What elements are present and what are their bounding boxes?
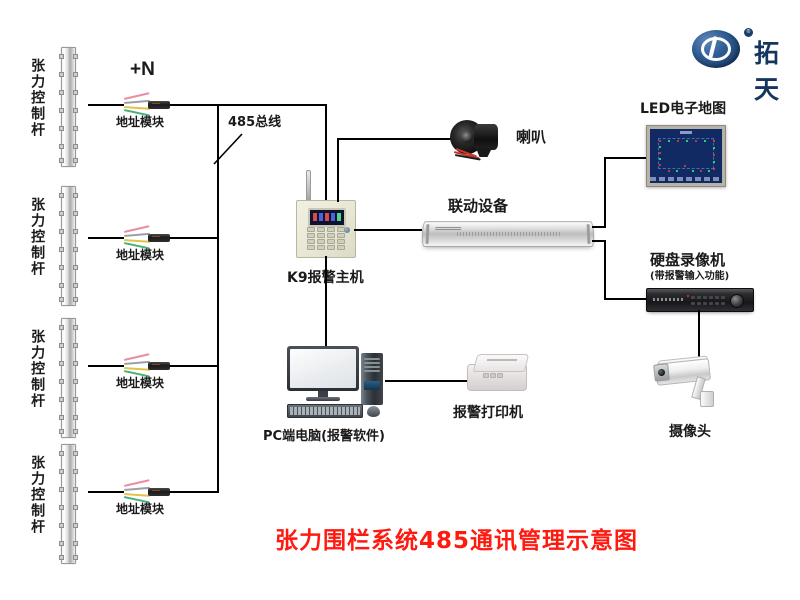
- address-module-label-1: 地址模块: [116, 116, 164, 130]
- plus-n-label: +N: [130, 59, 155, 81]
- led-map-screen: [650, 129, 722, 183]
- pc-tower: [361, 353, 383, 405]
- address-module-2: [124, 231, 170, 245]
- diagram-canvas: ® 拓天 张力控制杆 地址模块 +N 张力控制杆: [0, 0, 800, 600]
- wire-to-ledmap-horizontal: [604, 157, 646, 159]
- pc-monitor: [287, 346, 359, 391]
- wire-module2-to-bus: [170, 237, 219, 239]
- printer-paper-slot: [487, 359, 517, 361]
- tension-pole-label-3: 张力控制杆: [29, 329, 45, 409]
- pc-label: PC端电脑(报警软件): [263, 430, 385, 445]
- wire-module3-to-bus: [170, 365, 219, 367]
- speaker-body: [474, 124, 498, 150]
- camera-label: 摄像头: [669, 424, 711, 440]
- bus-trunk-top-horizontal: [217, 104, 327, 106]
- address-module-label-3: 地址模块: [116, 377, 164, 391]
- tuotian-oval-logo-icon: [692, 30, 740, 68]
- dvr-sublabel: (带报警输入功能): [650, 271, 729, 283]
- mouse[interactable]: [367, 406, 380, 417]
- k9-alarm-host: [296, 200, 356, 258]
- wire-host-to-linkage: [354, 229, 422, 231]
- host-indicator-knob: [344, 227, 350, 233]
- address-module-label-2: 地址模块: [116, 249, 164, 263]
- wire-pc-to-printer: [385, 380, 469, 382]
- address-module-label-4: 地址模块: [116, 503, 164, 517]
- brand-name: 拓天: [754, 34, 780, 106]
- horn-speaker: [450, 118, 502, 158]
- surveillance-camera: [654, 355, 726, 407]
- registered-mark: ®: [744, 28, 753, 37]
- wire-dvr-to-camera: [698, 310, 700, 357]
- monitor-stand-base: [306, 397, 340, 401]
- dvr-button-row[interactable]: [691, 296, 733, 306]
- bus-label: 485总线: [228, 116, 281, 131]
- linkage-device: [421, 221, 594, 247]
- wire-pole1-to-module1: [88, 104, 124, 106]
- led-electronic-map: [646, 125, 726, 187]
- wire-pole4-to-module4: [88, 491, 124, 493]
- pc-workstation: [287, 346, 383, 422]
- tension-pole-1: [61, 47, 76, 167]
- led-map-label: LED电子地图: [640, 101, 726, 117]
- tension-pole-2: [61, 186, 76, 306]
- camera-lens-icon: [653, 363, 670, 381]
- tension-pole-label-2: 张力控制杆: [29, 197, 45, 277]
- wire-host-to-pc: [325, 256, 327, 346]
- hard-disk-recorder: [646, 288, 754, 312]
- alarm-printer: [467, 352, 529, 392]
- bus-leader-line: [208, 132, 244, 168]
- speaker-label: 喇叭: [516, 129, 546, 146]
- wire-pole2-to-module2: [88, 237, 124, 239]
- printer-label: 报警打印机: [453, 405, 523, 421]
- printer-lid: [473, 354, 529, 372]
- wire-host-to-speaker-vertical: [337, 138, 339, 202]
- tension-pole-3: [61, 318, 76, 438]
- wire-module4-to-bus: [170, 491, 219, 493]
- linkage-device-label: 联动设备: [448, 198, 508, 215]
- dvr-jog-dial[interactable]: [730, 294, 744, 308]
- address-module-1: [124, 98, 170, 112]
- wire-pole3-to-module3: [88, 365, 124, 367]
- wire-ledmap-vertical: [604, 157, 606, 228]
- tension-pole-label-1: 张力控制杆: [29, 58, 45, 138]
- address-module-3: [124, 359, 170, 373]
- dvr-label: 硬盘录像机: [650, 252, 725, 269]
- host-lcd-screen: [308, 208, 346, 227]
- address-module-4: [124, 485, 170, 499]
- camera-wall-mount: [700, 391, 714, 407]
- tension-pole-label-4: 张力控制杆: [29, 455, 45, 535]
- speaker-bracket: [476, 148, 492, 157]
- keyboard[interactable]: [287, 404, 363, 418]
- wire-module1-to-bus: [170, 104, 219, 106]
- wire-dvr-vertical: [604, 240, 606, 300]
- tension-pole-4: [61, 444, 76, 564]
- wire-host-to-speaker-horizontal: [337, 138, 452, 140]
- host-keypad[interactable]: [307, 227, 343, 249]
- wire-to-dvr-horizontal: [604, 298, 646, 300]
- bus-to-host-drop: [325, 104, 327, 200]
- diagram-title: 张力围栏系统485通讯管理示意图: [275, 521, 638, 555]
